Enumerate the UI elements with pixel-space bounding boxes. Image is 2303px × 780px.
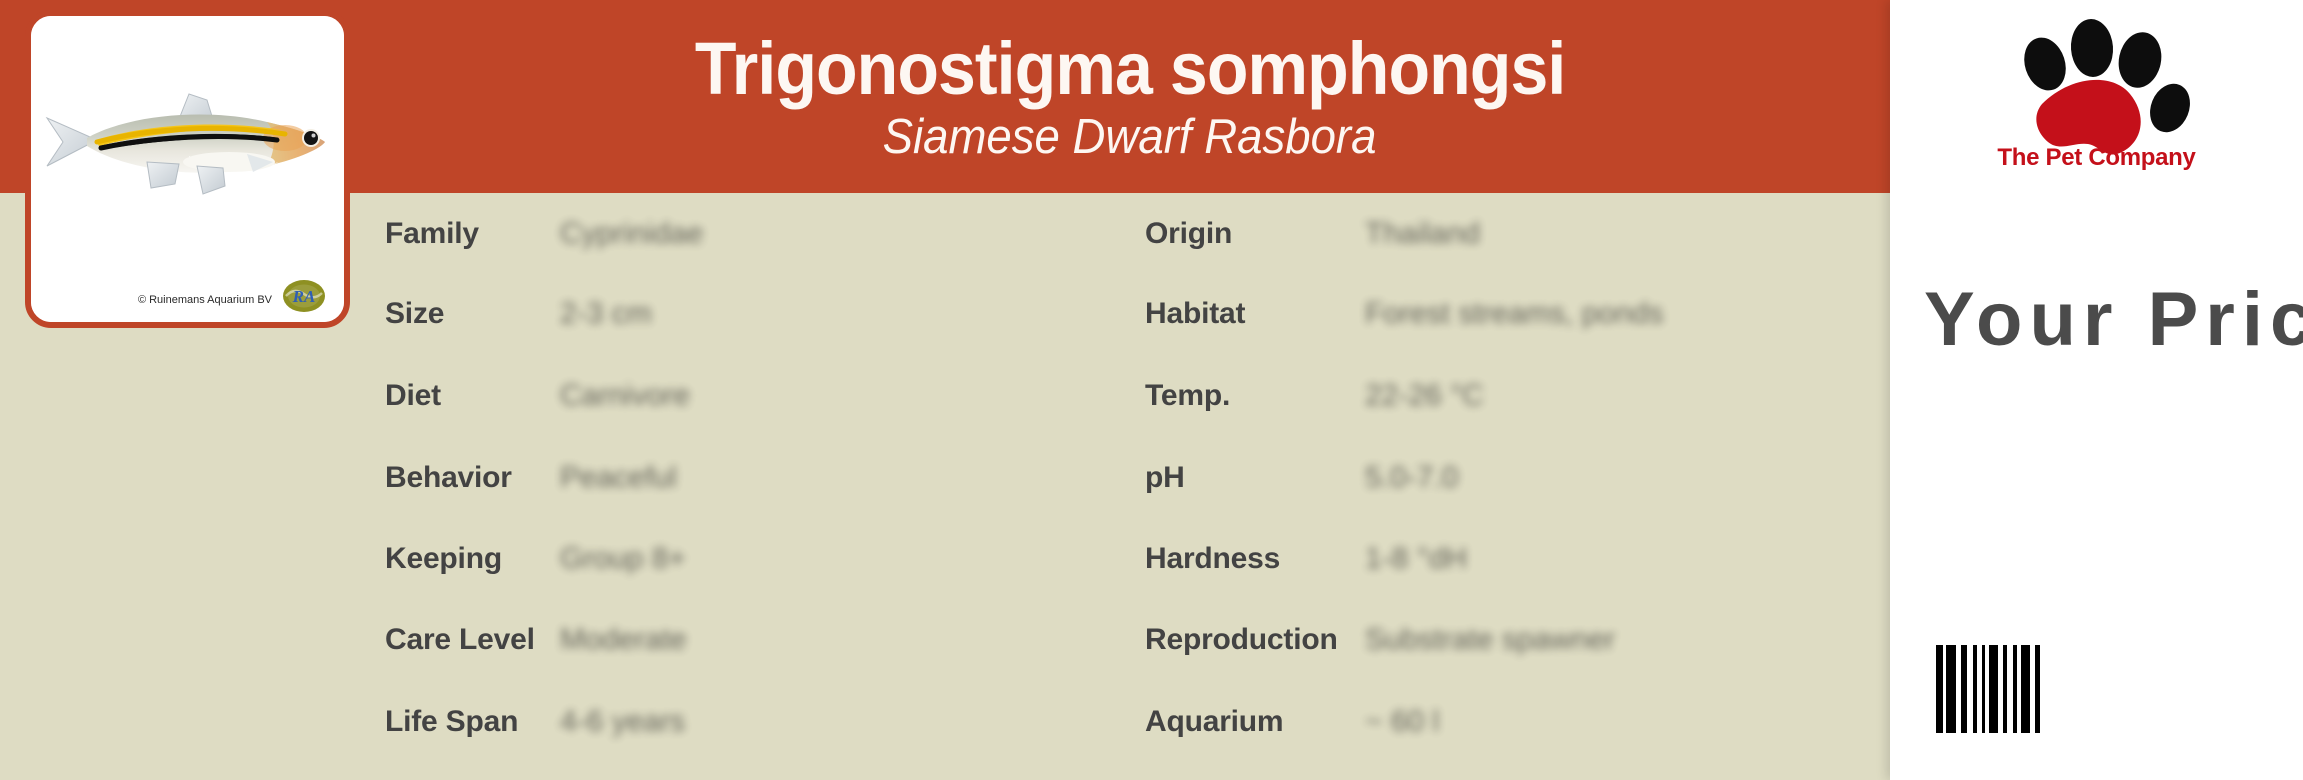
photo-credit: © Ruinemans Aquarium BV <box>138 294 272 306</box>
spec-label: Behavior <box>385 461 560 495</box>
spec-value: Substrate spawner <box>1365 623 1615 657</box>
spec-value: Forest streams, ponds <box>1365 297 1663 331</box>
spec-row-ph: pH 5.0-7.0 <box>1145 437 1890 519</box>
fish-illustration <box>39 78 349 208</box>
barcode-bar <box>1946 645 1956 733</box>
spec-row-aquarium: Aquarium ~ 60 l <box>1145 681 1890 763</box>
spec-value: 2-3 cm <box>560 297 652 331</box>
svg-text:RA: RA <box>292 287 316 306</box>
spec-label: Habitat <box>1145 297 1365 331</box>
spec-row-behavior: Behavior Peaceful <box>385 437 1125 519</box>
spec-label: Size <box>385 297 560 331</box>
spec-value: Carnivore <box>560 379 690 413</box>
spec-label: Family <box>385 217 560 251</box>
spec-label: Hardness <box>1145 542 1365 576</box>
spec-row-keeping: Keeping Group 8+ <box>385 518 1125 600</box>
title-block: Trigonostigma somphongsi Siamese Dwarf R… <box>370 0 1890 193</box>
spec-value: Cyprinidae <box>560 217 703 251</box>
barcode-bar <box>1936 645 1943 733</box>
spec-row-size: Size 2-3 cm <box>385 273 1125 355</box>
barcode <box>1936 645 2040 733</box>
spec-label: Reproduction <box>1145 623 1365 657</box>
spec-row-reproduction: Reproduction Substrate spawner <box>1145 599 1890 681</box>
spec-label: pH <box>1145 461 1365 495</box>
spec-value: Moderate <box>560 623 687 657</box>
price-panel: The Pet Company Your Price <box>1890 0 2303 780</box>
spec-label: Diet <box>385 379 560 413</box>
brand-name: The Pet Company <box>1982 144 2212 172</box>
spec-value: ~ 60 l <box>1365 705 1439 739</box>
your-price-label: Your Price <box>1924 282 2303 358</box>
spec-value: Group 8+ <box>560 542 686 576</box>
specs-column-left: Family Cyprinidae Size 2-3 cm Diet Carni… <box>385 193 1125 780</box>
spec-row-care-level: Care Level Moderate <box>385 599 1125 681</box>
ruinemans-logo-icon: RA <box>282 276 326 316</box>
spec-row-temp: Temp. 22-26 °C <box>1145 355 1890 437</box>
spec-label: Temp. <box>1145 379 1365 413</box>
spec-row-origin: Origin Thailand <box>1145 193 1890 275</box>
spec-value: 5.0-7.0 <box>1365 461 1458 495</box>
spec-label: Keeping <box>385 542 560 576</box>
spec-row-habitat: Habitat Forest streams, ponds <box>1145 273 1890 355</box>
spec-value: Peaceful <box>560 461 677 495</box>
spec-value: 4-6 years <box>560 705 685 739</box>
spec-row-family: Family Cyprinidae <box>385 193 1125 275</box>
spec-value: 1-8 °dH <box>1365 542 1467 576</box>
spec-label: Life Span <box>385 705 560 739</box>
barcode-bar <box>2021 645 2030 733</box>
barcode-bar <box>2035 645 2040 733</box>
fish-photo-card: © Ruinemans Aquarium BV RA <box>25 10 350 328</box>
paw-print-icon: The Pet Company <box>1982 16 2212 176</box>
spec-label: Care Level <box>385 623 560 657</box>
barcode-bar <box>1989 645 1998 733</box>
fish-photo: © Ruinemans Aquarium BV RA <box>31 16 344 322</box>
specs-table: Family Cyprinidae Size 2-3 cm Diet Carni… <box>370 193 1890 780</box>
page-subtitle: Siamese Dwarf Rasbora <box>883 112 1377 162</box>
spec-label: Aquarium <box>1145 705 1365 739</box>
specs-column-right: Origin Thailand Habitat Forest streams, … <box>1145 193 1890 780</box>
product-info-sheet: Trigonostigma somphongsi Siamese Dwarf R… <box>0 0 2303 780</box>
spec-value: 22-26 °C <box>1365 379 1484 413</box>
spec-row-diet: Diet Carnivore <box>385 355 1125 437</box>
brand-logo: The Pet Company <box>1890 8 2303 183</box>
spec-label: Origin <box>1145 217 1365 251</box>
spec-row-hardness: Hardness 1-8 °dH <box>1145 518 1890 600</box>
spec-row-life-span: Life Span 4-6 years <box>385 681 1125 763</box>
page-title: Trigonostigma somphongsi <box>695 32 1566 106</box>
spec-value: Thailand <box>1365 217 1480 251</box>
